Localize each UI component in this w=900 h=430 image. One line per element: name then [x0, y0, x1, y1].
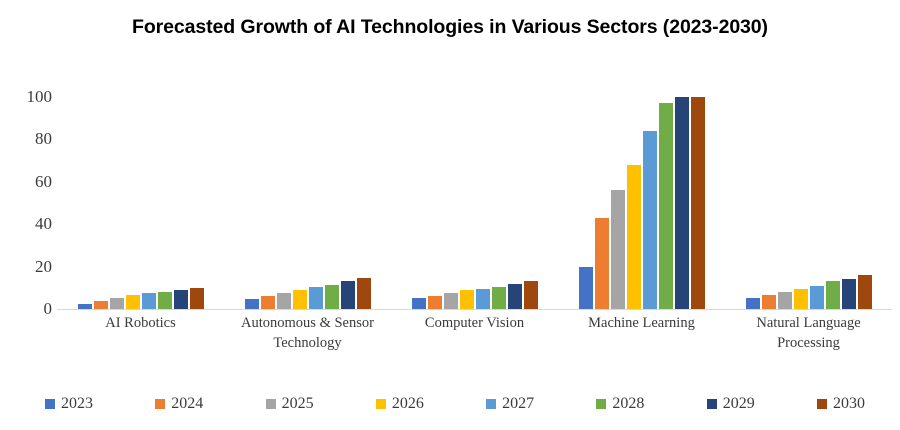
legend-swatch-icon	[817, 399, 827, 409]
bar-2028[interactable]	[492, 287, 506, 309]
bar-2028[interactable]	[325, 285, 339, 309]
legend-swatch-icon	[45, 399, 55, 409]
bar-2027[interactable]	[142, 293, 156, 309]
legend-swatch-icon	[155, 399, 165, 409]
bar-2023[interactable]	[78, 304, 92, 309]
bar-2030[interactable]	[190, 288, 204, 309]
bar-2024[interactable]	[428, 296, 442, 309]
bar-2023[interactable]	[245, 299, 259, 309]
bar-2027[interactable]	[643, 131, 657, 309]
bar-2028[interactable]	[826, 281, 840, 309]
category-label: Machine Learning	[558, 313, 725, 353]
plot-area	[57, 97, 892, 309]
y-axis-tick-label: 20	[6, 257, 52, 277]
category-label: Natural Language Processing	[725, 313, 892, 353]
legend-item-2029[interactable]: 2029	[707, 396, 755, 412]
bar-2027[interactable]	[309, 287, 323, 309]
category-label: AI Robotics	[57, 313, 224, 353]
legend-label: 2024	[171, 396, 203, 412]
bar-2024[interactable]	[762, 295, 776, 309]
bar-2023[interactable]	[746, 298, 760, 309]
legend-item-2027[interactable]: 2027	[486, 396, 534, 412]
bar-2029[interactable]	[508, 284, 522, 309]
legend-label: 2029	[723, 396, 755, 412]
bar-2024[interactable]	[595, 218, 609, 309]
legend-item-2030[interactable]: 2030	[817, 396, 865, 412]
bar-2030[interactable]	[691, 97, 705, 309]
bar-2025[interactable]	[778, 292, 792, 309]
category-axis-labels: AI RoboticsAutonomous & Sensor Technolog…	[57, 313, 892, 353]
bar-group	[725, 97, 892, 309]
bar-2030[interactable]	[858, 275, 872, 309]
y-axis-tick-label: 0	[6, 299, 52, 319]
chart-legend: 20232024202520262027202820292030	[45, 396, 865, 412]
legend-swatch-icon	[376, 399, 386, 409]
y-axis-tick-label: 60	[6, 172, 52, 192]
bar-2029[interactable]	[341, 281, 355, 309]
legend-item-2028[interactable]: 2028	[596, 396, 644, 412]
bar-2025[interactable]	[611, 190, 625, 309]
y-axis-tick-label: 40	[6, 214, 52, 234]
category-label: Computer Vision	[391, 313, 558, 353]
bar-2026[interactable]	[794, 289, 808, 309]
bar-2024[interactable]	[261, 296, 275, 309]
legend-label: 2027	[502, 396, 534, 412]
bar-2026[interactable]	[627, 165, 641, 309]
legend-item-2025[interactable]: 2025	[266, 396, 314, 412]
legend-item-2023[interactable]: 2023	[45, 396, 93, 412]
bar-2029[interactable]	[675, 97, 689, 309]
legend-label: 2028	[612, 396, 644, 412]
bar-2024[interactable]	[94, 301, 108, 309]
bar-2025[interactable]	[444, 293, 458, 309]
legend-swatch-icon	[707, 399, 717, 409]
bar-2026[interactable]	[293, 290, 307, 309]
category-label: Autonomous & Sensor Technology	[224, 313, 391, 353]
bar-group	[57, 97, 224, 309]
bar-2029[interactable]	[842, 279, 856, 309]
legend-swatch-icon	[266, 399, 276, 409]
bar-2025[interactable]	[110, 298, 124, 309]
x-axis-line	[57, 309, 892, 310]
bar-2030[interactable]	[357, 278, 371, 309]
y-axis-tick-label: 80	[6, 129, 52, 149]
bar-2026[interactable]	[126, 295, 140, 309]
bar-group	[558, 97, 725, 309]
y-axis: 020406080100	[0, 97, 52, 309]
bar-group	[224, 97, 391, 309]
legend-swatch-icon	[596, 399, 606, 409]
y-axis-tick-label: 100	[6, 87, 52, 107]
bar-2027[interactable]	[810, 286, 824, 309]
bar-2030[interactable]	[524, 281, 538, 309]
bar-2023[interactable]	[579, 267, 593, 309]
legend-label: 2026	[392, 396, 424, 412]
bar-2028[interactable]	[158, 292, 172, 309]
legend-label: 2025	[282, 396, 314, 412]
legend-item-2026[interactable]: 2026	[376, 396, 424, 412]
bar-group	[391, 97, 558, 309]
bar-2028[interactable]	[659, 103, 673, 309]
bar-2023[interactable]	[412, 298, 426, 309]
chart-title: Forecasted Growth of AI Technologies in …	[120, 14, 780, 40]
bar-2026[interactable]	[460, 290, 474, 309]
bar-chart: Forecasted Growth of AI Technologies in …	[0, 0, 900, 430]
bar-2029[interactable]	[174, 290, 188, 309]
legend-label: 2023	[61, 396, 93, 412]
legend-swatch-icon	[486, 399, 496, 409]
bar-2025[interactable]	[277, 293, 291, 309]
legend-label: 2030	[833, 396, 865, 412]
legend-item-2024[interactable]: 2024	[155, 396, 203, 412]
bar-2027[interactable]	[476, 289, 490, 309]
